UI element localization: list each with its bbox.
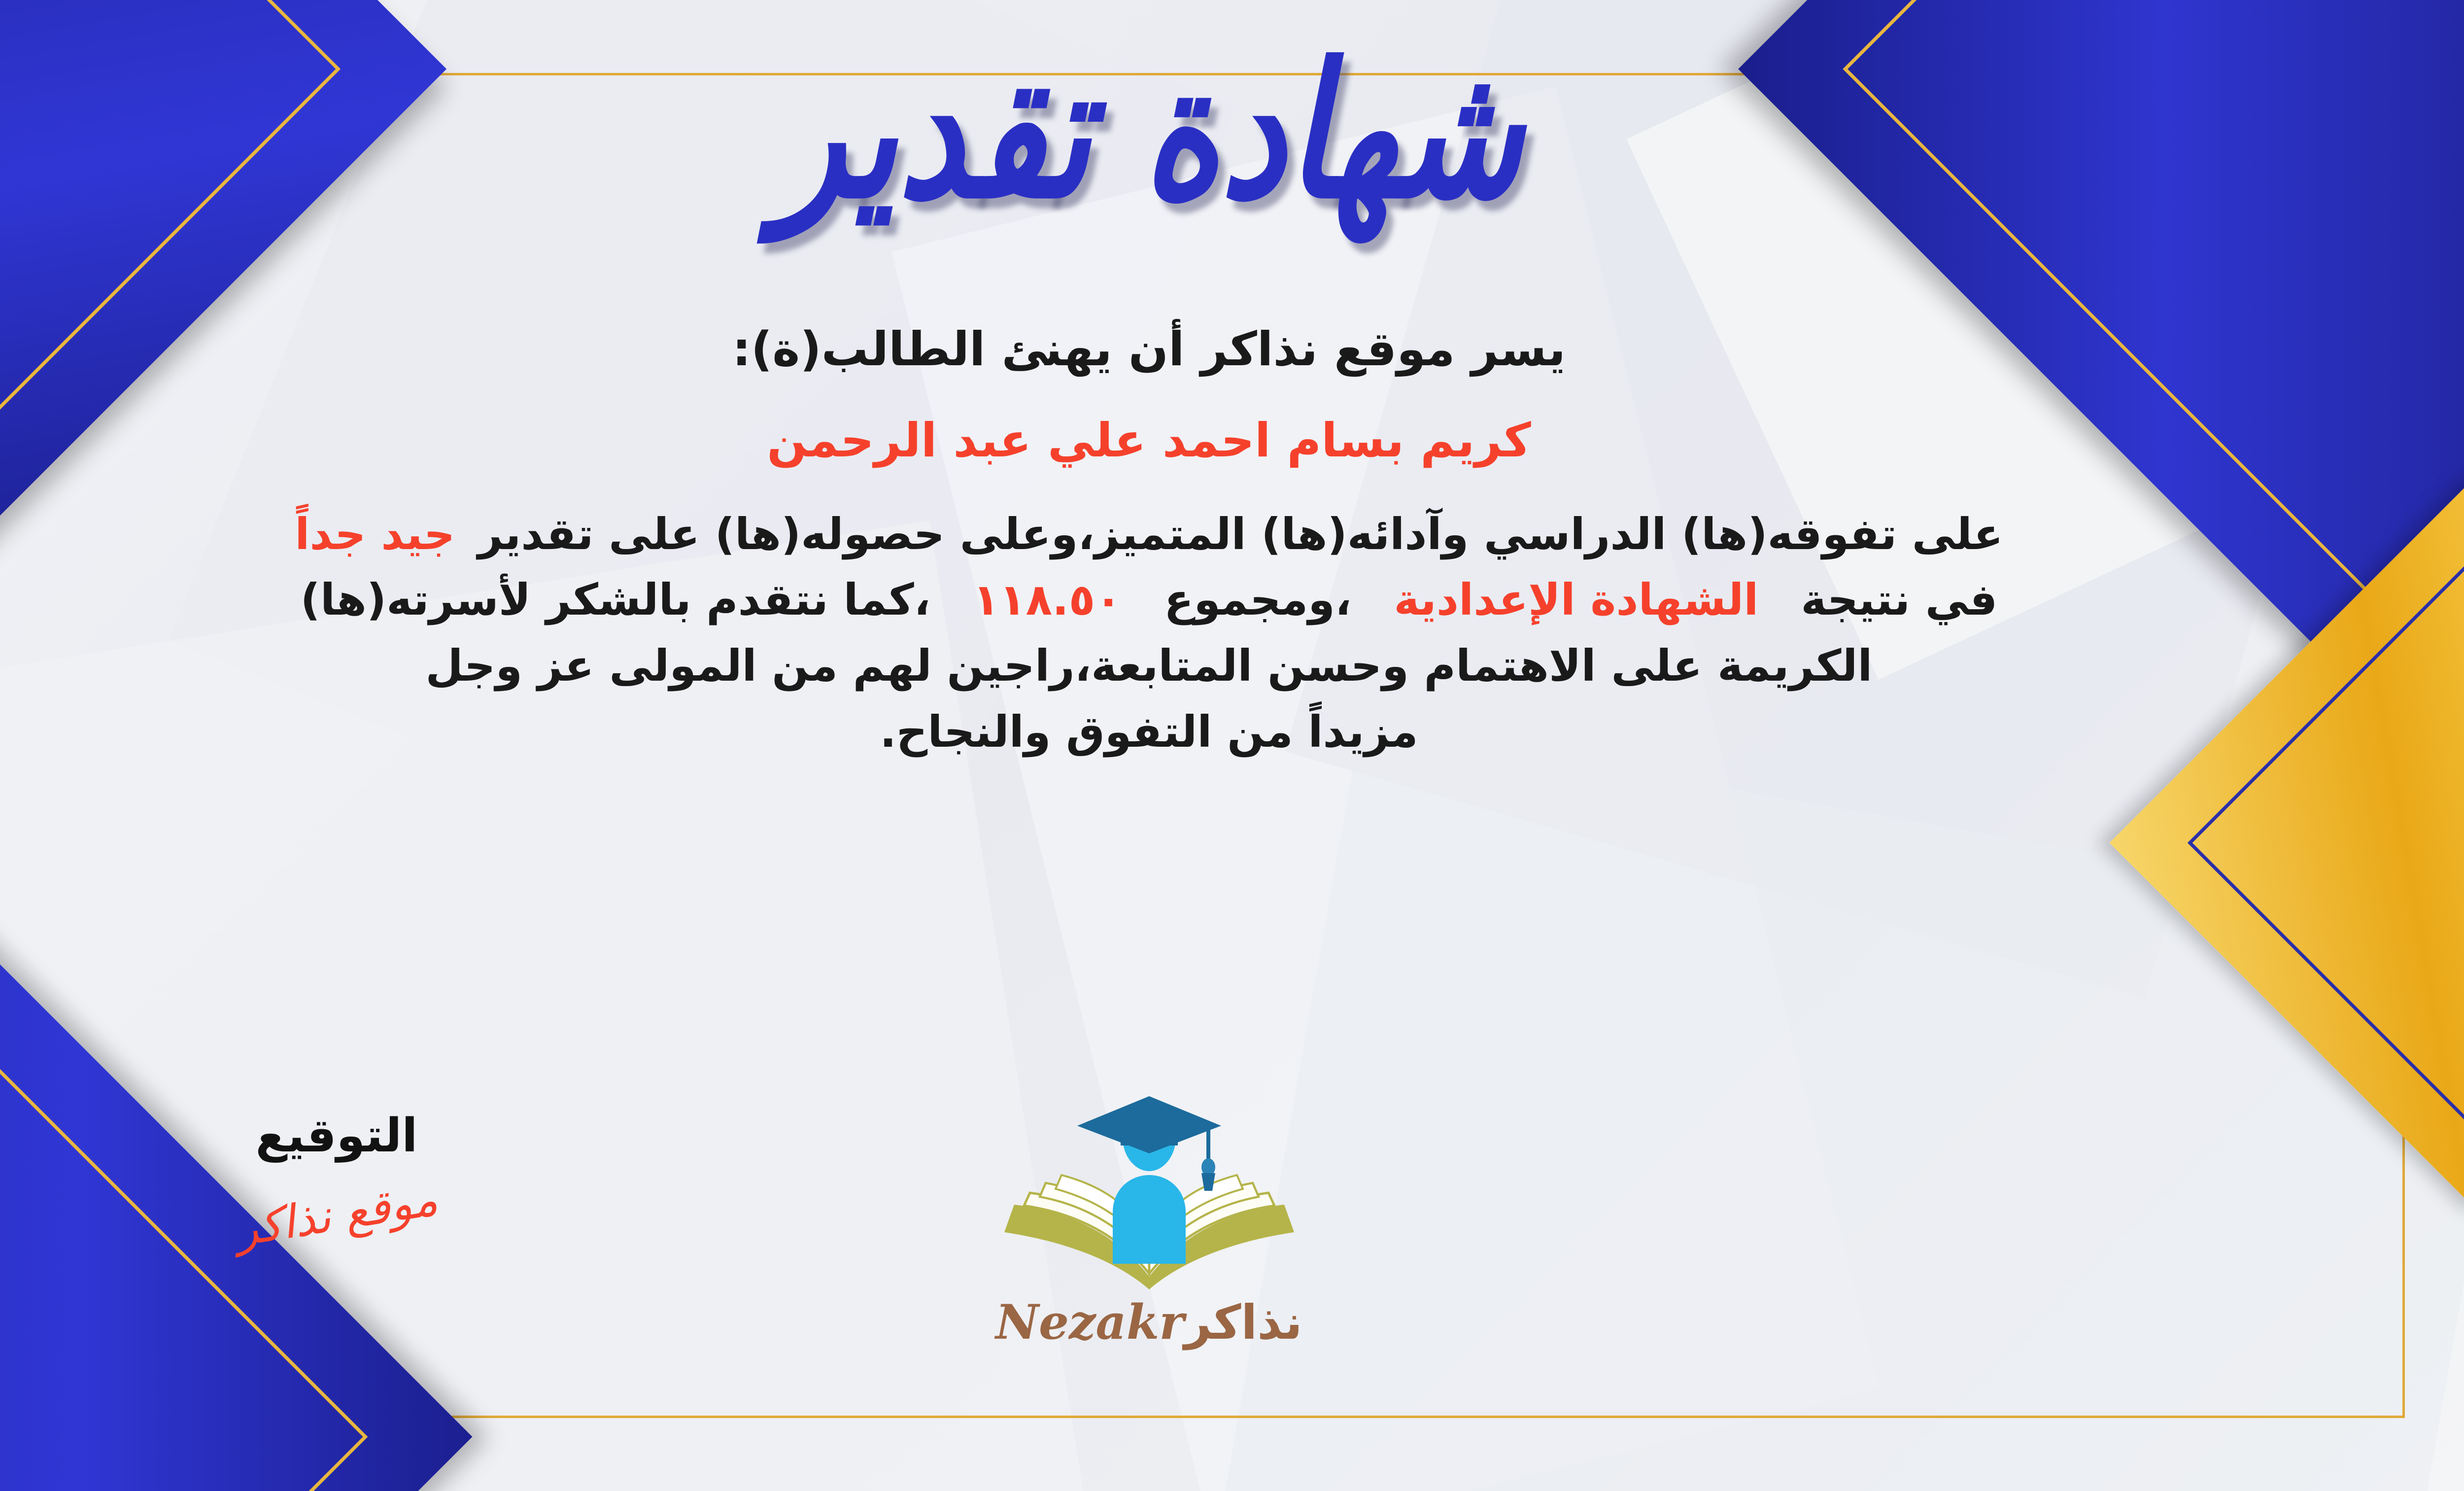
student-name: كريم بسام احمد علي عبد الرحمن (0, 414, 2464, 468)
greeting-line: يسر موقع نذاكر أن يهنئ الطالب(ة): (0, 314, 2464, 385)
total-score: ١١٨.٥٠ (973, 574, 1122, 625)
body-line-4: مزيداً من التفوق والنجاح. (0, 699, 2307, 765)
exam-name: الشهادة الإعدادية (1394, 574, 1758, 625)
body-line-2: في نتيجةالشهادة الإعدادية،ومجموع١١٨.٥٠،ك… (0, 567, 2307, 633)
brand-logo: Nezakrنذاكر (927, 1094, 1371, 1350)
signature-block: التوقيع موقع نذاكر (179, 1109, 494, 1241)
body-line-3: الكريمة على الاهتمام وحسن المتابعة،راجين… (0, 633, 2307, 699)
body-line-2-prefix: في نتيجة (1801, 574, 1997, 625)
brand-logo-latin: Nezakr (995, 1294, 1184, 1350)
certificate-title: شهادة تقدير (775, 40, 1523, 225)
body-line-1: على تفوقه(ها) الدراسي وآدائه(ها) المتميز… (0, 501, 2307, 567)
body-line-2-suffix: ،كما نتقدم بالشكر لأسرته(ها) (301, 574, 931, 625)
brand-logo-text: Nezakrنذاكر (927, 1294, 1371, 1350)
signature-handwritten: موقع نذاكر (232, 1173, 442, 1256)
certificate-footer: التوقيع موقع نذاكر (0, 1099, 2464, 1415)
brand-logo-arabic: نذاكر (1184, 1295, 1302, 1350)
certificate-body: يسر موقع نذاكر أن يهنئ الطالب(ة): كريم ب… (0, 314, 2464, 765)
certificate-canvas: شهادة تقدير يسر موقع نذاكر أن يهنئ الطال… (0, 0, 2464, 1491)
graduate-book-icon (996, 1094, 1302, 1301)
body-line-2-middle: ،ومجموع (1164, 574, 1351, 625)
body-line-1-text: على تفوقه(ها) الدراسي وآدائه(ها) المتميز… (478, 509, 2003, 559)
grade-value: جيد جداً (295, 509, 455, 559)
signature-label: التوقيع (179, 1109, 494, 1163)
body-paragraph: على تفوقه(ها) الدراسي وآدائه(ها) المتميز… (0, 501, 2307, 765)
